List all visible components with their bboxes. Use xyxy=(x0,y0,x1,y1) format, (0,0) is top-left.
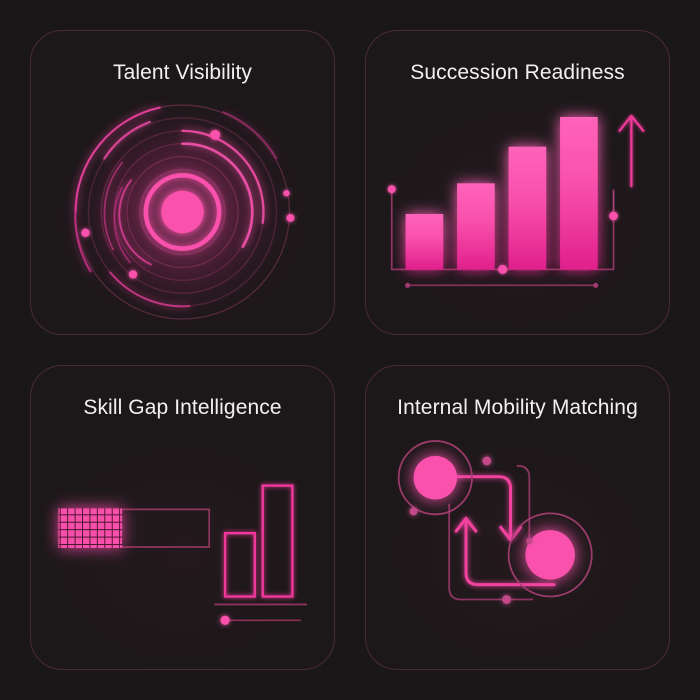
card-succession-readiness[interactable]: Succession Readiness xyxy=(365,30,670,335)
card-skill-gap-intelligence[interactable]: Skill Gap Intelligence xyxy=(30,365,335,670)
card-title-succession-readiness: Succession Readiness xyxy=(366,31,669,85)
circular-exchange-arrows-icon xyxy=(366,426,669,669)
concentric-radar-icon xyxy=(31,91,334,334)
feature-card-grid: Talent Visibility xyxy=(0,0,700,700)
card-internal-mobility-matching[interactable]: Internal Mobility Matching xyxy=(365,365,670,670)
card-title-skill-gap-intelligence: Skill Gap Intelligence xyxy=(31,366,334,420)
ascending-bar-chart-icon xyxy=(366,91,669,334)
dashboard-canvas: Talent Visibility xyxy=(0,0,700,700)
card-talent-visibility[interactable]: Talent Visibility xyxy=(30,30,335,335)
card-title-talent-visibility: Talent Visibility xyxy=(31,31,334,85)
grid-progress-bars-icon xyxy=(31,426,334,669)
card-title-internal-mobility-matching: Internal Mobility Matching xyxy=(366,366,669,420)
